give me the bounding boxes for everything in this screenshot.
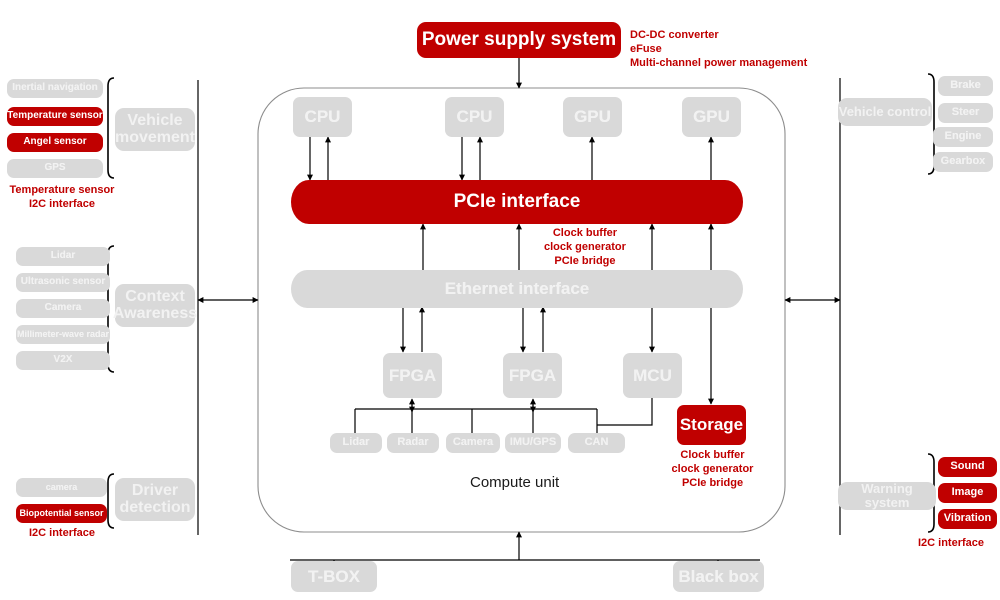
- actuator-brake[interactable]: Brake: [938, 76, 993, 96]
- mcu-node[interactable]: MCU: [623, 353, 682, 398]
- black-box-node[interactable]: Black box: [673, 561, 764, 592]
- pcie-annotation: Clock buffer clock generator PCIe bridge: [544, 226, 626, 268]
- storage-node[interactable]: Storage: [677, 405, 746, 445]
- sensor-inertial-navigation[interactable]: Inertial navigation: [7, 79, 103, 98]
- tbox-node[interactable]: T-BOX: [291, 561, 377, 592]
- sensor-angel[interactable]: Angel sensor: [7, 133, 103, 152]
- io-port-camera[interactable]: Camera: [446, 433, 500, 453]
- sensor-millimeter-wave-radar[interactable]: Millimeter-wave radar: [16, 325, 110, 344]
- cpu-node-2[interactable]: CPU: [445, 97, 504, 137]
- io-port-lidar[interactable]: Lidar: [330, 433, 382, 453]
- sensor-driver-camera[interactable]: camera: [16, 478, 107, 497]
- architecture-diagram: Power supply system DC-DC converter eFus…: [0, 0, 1000, 600]
- actuator-engine[interactable]: Engine: [933, 127, 993, 147]
- sensor-lidar[interactable]: Lidar: [16, 247, 110, 266]
- sensor-ultrasonic[interactable]: Ultrasonic sensor: [16, 273, 110, 292]
- driver-detection-annotation: I2C interface: [0, 526, 124, 540]
- group-label-driver-detection[interactable]: Driver detection: [115, 478, 195, 521]
- sensor-gps[interactable]: GPS: [7, 159, 103, 178]
- warning-vibration[interactable]: Vibration: [938, 509, 997, 529]
- io-port-can[interactable]: CAN: [568, 433, 625, 453]
- sensor-biopotential[interactable]: Biopotential sensor: [16, 504, 107, 523]
- warning-sound[interactable]: Sound: [938, 457, 997, 477]
- gpu-node-2[interactable]: GPU: [682, 97, 741, 137]
- actuator-gearbox[interactable]: Gearbox: [933, 152, 993, 172]
- power-supply-system-node[interactable]: Power supply system: [417, 22, 621, 58]
- group-label-context-awareness[interactable]: Context Awareness: [115, 284, 195, 327]
- ethernet-interface-bar[interactable]: Ethernet interface: [291, 270, 743, 308]
- gpu-node-1[interactable]: GPU: [563, 97, 622, 137]
- power-supply-annotation: DC-DC converter eFuse Multi-channel powe…: [630, 28, 807, 70]
- vehicle-movement-annotation: Temperature sensor I2C interface: [0, 183, 124, 211]
- actuator-steer[interactable]: Steer: [938, 103, 993, 123]
- sensor-camera[interactable]: Camera: [16, 299, 110, 318]
- group-label-warning-system[interactable]: Warning system: [838, 482, 936, 510]
- storage-annotation: Clock buffer clock generator PCIe bridge: [655, 448, 770, 490]
- group-label-vehicle-control[interactable]: Vehicle control: [838, 98, 932, 126]
- fpga-node-2[interactable]: FPGA: [503, 353, 562, 398]
- group-label-vehicle-movement[interactable]: Vehicle movement: [115, 108, 195, 151]
- pcie-interface-bar[interactable]: PCIe interface: [291, 180, 743, 224]
- compute-unit-label: Compute unit: [470, 474, 559, 491]
- warning-system-annotation: I2C interface: [905, 536, 997, 550]
- fpga-node-1[interactable]: FPGA: [383, 353, 442, 398]
- sensor-temperature[interactable]: Temperature sensor: [7, 107, 103, 126]
- cpu-node-1[interactable]: CPU: [293, 97, 352, 137]
- io-port-imu-gps[interactable]: IMU/GPS: [505, 433, 561, 453]
- io-port-radar[interactable]: Radar: [387, 433, 439, 453]
- warning-image[interactable]: Image: [938, 483, 997, 503]
- sensor-v2x[interactable]: V2X: [16, 351, 110, 370]
